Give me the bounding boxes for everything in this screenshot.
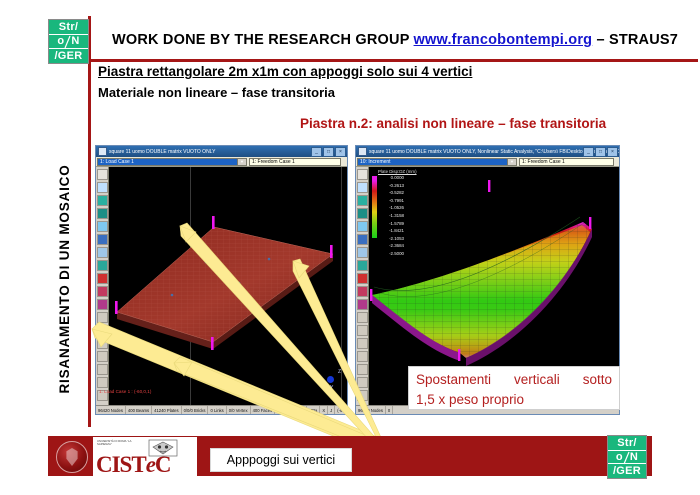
mesh-icon[interactable]: [357, 338, 368, 349]
node-icon[interactable]: [97, 182, 108, 193]
load-case-viewport-label: 1: Load Case 1 : (-60,0,1): [99, 389, 151, 394]
header-rule-vertical: [88, 16, 91, 427]
freedom-case-combo-value: 1: Freedom Case 1: [522, 159, 565, 165]
grid-icon[interactable]: [97, 325, 108, 336]
solver-icon[interactable]: [97, 351, 108, 362]
status-nodes: 96420 Nodes: [356, 406, 386, 414]
status-unit-mass: kg: [297, 406, 306, 414]
logo-slash-icon: [623, 451, 630, 463]
restraint-icon[interactable]: [97, 286, 108, 297]
header-rule-horizontal: [88, 59, 698, 62]
link-icon[interactable]: [357, 234, 368, 245]
status-plates: 41240 Plates: [152, 406, 181, 414]
cistec-part-1: CIST: [96, 452, 146, 476]
increment-combo-value: 10: Increment: [360, 159, 391, 165]
vertex-icon[interactable]: [97, 247, 108, 258]
status-unit-stress: MPa: [307, 406, 321, 414]
attach-icon[interactable]: [97, 312, 108, 323]
maximize-button[interactable]: □: [323, 147, 334, 157]
logo-row3: /GER: [613, 465, 641, 477]
minimize-button[interactable]: _: [311, 147, 322, 157]
research-group-link[interactable]: www.francobontempi.org: [414, 32, 593, 48]
close-button[interactable]: ×: [607, 147, 618, 157]
attach-icon[interactable]: [357, 312, 368, 323]
window-left-titlebar[interactable]: square 11 uomo DOUBLE matrix VUOTO ONLY …: [96, 146, 347, 157]
status-axis: X: [320, 406, 328, 414]
status-beams: 400 Beams: [126, 406, 152, 414]
view-icon[interactable]: [97, 377, 108, 388]
subtitle-highlight: Piastra n.2: analisi non lineare – fase …: [300, 116, 606, 131]
cistec-wordmark: CISTeC: [96, 452, 171, 476]
status-faces: 400 Faces: [251, 406, 276, 414]
axis-z-label: Z: [338, 369, 341, 375]
logo-row2-right: N: [71, 35, 79, 47]
brick-icon[interactable]: [357, 221, 368, 232]
status-view-angles: (-60,-180,-45): [335, 406, 347, 414]
note-line-1: Spostamenti verticali sotto: [416, 370, 612, 390]
grid-icon[interactable]: [357, 325, 368, 336]
logo-row1: Str/: [59, 21, 79, 33]
header-title-main: WORK DONE BY THE RESEARCH GROUP: [112, 32, 409, 48]
zoom-icon[interactable]: [357, 390, 368, 401]
select-icon[interactable]: [97, 169, 108, 180]
brick-icon[interactable]: [97, 221, 108, 232]
chevron-down-icon[interactable]: ▼: [237, 159, 246, 165]
plate-model-3d: [109, 167, 347, 405]
face-icon[interactable]: [97, 260, 108, 271]
logo-row2-left: o: [616, 451, 623, 463]
logo-row1: Str/: [617, 437, 637, 449]
straus7-window-model[interactable]: square 11 uomo DOUBLE matrix VUOTO ONLY …: [95, 145, 348, 415]
node-icon[interactable]: [357, 182, 368, 193]
plate-icon[interactable]: [97, 208, 108, 219]
subtitle-secondary: Materiale non lineare – fase transitoria: [98, 85, 335, 100]
logo-row3: /GER: [54, 50, 82, 62]
face-icon[interactable]: [357, 260, 368, 271]
logo-row2-left: o: [57, 35, 64, 47]
maximize-button[interactable]: □: [595, 147, 606, 157]
left-tool-palette[interactable]: [96, 167, 109, 405]
cistec-university-line: UNIVERSITÀ DI ROMA “LA SAPIENZA”: [97, 440, 145, 447]
cistec-logo: UNIVERSITÀ DI ROMA “LA SAPIENZA” CISTeC: [93, 437, 197, 476]
load-case-combo-value: 1: Load Case 1: [100, 159, 134, 165]
restraint-icon[interactable]: [357, 286, 368, 297]
status-nodes: 96420 Nodes: [96, 406, 126, 414]
callout-label-supports: Apppoggi sui vertici: [210, 448, 352, 472]
status-links: 0 Links: [208, 406, 226, 414]
window-right-titlebar[interactable]: square 11 uomo DOUBLE matrix VUOTO ONLY,…: [356, 146, 619, 157]
freedom-case-combo-value: 1: Freedom Case 1: [252, 159, 295, 165]
status-count: 0: [386, 406, 393, 414]
window-left-title: square 11 uomo DOUBLE matrix VUOTO ONLY: [109, 149, 215, 155]
status-unit-length: mm: [275, 406, 287, 414]
header-title-tail: – STRAUS7: [596, 32, 678, 48]
point-icon[interactable]: [357, 273, 368, 284]
window-left-statusbar: 96420 Nodes 400 Beams 41240 Plates 0/0/0…: [96, 405, 347, 414]
results-icon[interactable]: [357, 364, 368, 375]
axis-triad: Z X Y: [317, 369, 343, 391]
app-icon: [358, 147, 367, 156]
app-icon: [98, 147, 107, 156]
force-icon[interactable]: [357, 299, 368, 310]
view-icon[interactable]: [357, 377, 368, 388]
minimize-button[interactable]: _: [583, 147, 594, 157]
axis-y-label: Y: [330, 385, 333, 391]
axis-origin-dot: [327, 376, 334, 383]
cistec-part-2: C: [155, 452, 171, 476]
slide-root: Str/ o N /GER WORK DONE BY THE RESEARCH …: [0, 0, 700, 495]
subtitle-primary: Piastra rettangolare 2m x1m con appoggi …: [98, 64, 472, 79]
note-box-displacements: Spostamenti verticali sotto 1,5 x peso p…: [408, 366, 620, 410]
page-title: WORK DONE BY THE RESEARCH GROUP www.fran…: [112, 32, 672, 52]
logo-row2-right: N: [630, 451, 638, 463]
beam-icon[interactable]: [97, 195, 108, 206]
model-viewport[interactable]: Z X Y 1: Load Case 1 : (-60,0,1): [96, 167, 347, 405]
mesh-icon[interactable]: [97, 338, 108, 349]
stronger-logo-footer: Str/ o N /GER: [607, 435, 647, 479]
chevron-down-icon[interactable]: ▼: [507, 159, 516, 165]
window-left-toolbar[interactable]: 1: Load Case 1 ▼ 1: Freedom Case 1: [96, 157, 347, 167]
beam-icon[interactable]: [357, 195, 368, 206]
stronger-logo-header: Str/ o N /GER: [48, 19, 89, 64]
axis-x-label: X: [317, 377, 320, 383]
freedom-case-combo[interactable]: 1: Freedom Case 1: [249, 158, 341, 166]
select-icon[interactable]: [357, 169, 368, 180]
cistec-part-e: e: [146, 452, 155, 476]
window-right-controls[interactable]: _ □ ×: [583, 147, 618, 157]
plate-icon[interactable]: [357, 208, 368, 219]
note-line-2: 1,5 x peso proprio: [416, 390, 613, 410]
right-tool-palette[interactable]: [356, 167, 369, 405]
results-icon[interactable]: [97, 364, 108, 375]
status-unit-force: kN: [287, 406, 297, 414]
solver-icon[interactable]: [357, 351, 368, 362]
force-icon[interactable]: [97, 299, 108, 310]
close-button[interactable]: ×: [335, 147, 346, 157]
university-seal-logo: [56, 441, 88, 473]
vertex-icon[interactable]: [357, 247, 368, 258]
side-caption: RISANAMENTO DI UN MOSAICO: [57, 149, 79, 409]
point-icon[interactable]: [97, 273, 108, 284]
load-case-combo[interactable]: 1: Load Case 1 ▼: [97, 158, 247, 166]
window-right-toolbar[interactable]: 10: Increment ▼ 1: Freedom Case 1: [356, 157, 619, 167]
status-bricks: 0/0/0 Bricks: [182, 406, 209, 414]
increment-combo[interactable]: 10: Increment ▼: [357, 158, 517, 166]
logo-slash-icon: [64, 35, 71, 47]
freedom-case-combo[interactable]: 1: Freedom Case 1: [519, 158, 614, 166]
window-right-title: square 11 uomo DOUBLE matrix VUOTO ONLY,…: [369, 149, 619, 155]
status-vertex: 0/0 Vertex: [227, 406, 251, 414]
link-icon[interactable]: [97, 234, 108, 245]
window-left-controls[interactable]: _ □ ×: [311, 147, 346, 157]
status-flag: J: [328, 406, 335, 414]
